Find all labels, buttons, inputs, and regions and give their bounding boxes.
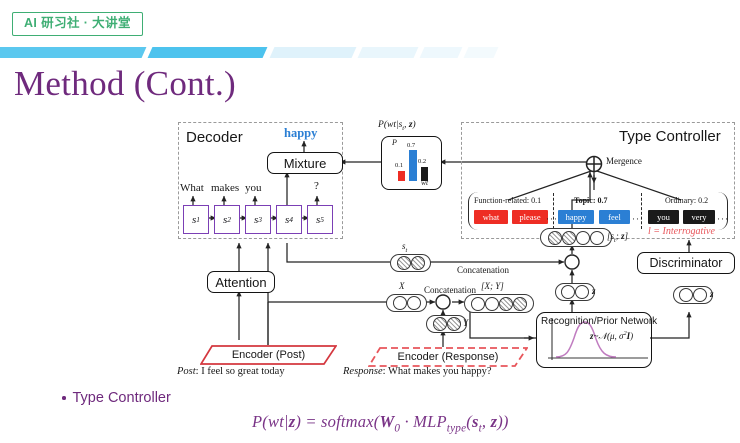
word-chip-feel: feel — [599, 210, 630, 224]
vector-st — [390, 254, 431, 272]
mixture-box[interactable]: Mixture — [267, 152, 343, 174]
vector-cell — [485, 297, 499, 311]
cell-index: 2 — [227, 215, 231, 224]
caption-response-text: : What makes you happy? — [383, 366, 492, 377]
decoder-input-word-1: makes — [211, 182, 239, 194]
recognition-formula: z~𝒩(μ, σ2I) — [590, 330, 633, 342]
caption-response-prefix: Response — [343, 366, 383, 377]
caption-post: Post: I feel so great today — [177, 366, 285, 377]
discriminator-box[interactable]: Discriminator — [637, 252, 735, 274]
decoder-input-word-0: What — [180, 182, 204, 194]
vector-x-label: X — [399, 281, 405, 291]
vector-y — [426, 315, 467, 333]
brand-badge: AI 研习社 · 大讲堂 — [12, 12, 143, 36]
vector-cell — [548, 231, 562, 245]
vector-cell — [679, 288, 693, 302]
bullet-dot-icon — [62, 396, 66, 400]
vector-cell — [575, 285, 589, 299]
category-header-topic: Topic: 0.7 — [574, 196, 608, 205]
prob-chart-bar-0 — [398, 171, 405, 181]
footer-equation: P(wt|z) = softmax(W0 · MLPtype(st, z)) — [252, 412, 509, 434]
decoder-input-word-2: you — [245, 182, 262, 194]
vector-cell — [513, 297, 527, 311]
category-header-ordinary: Ordinary: 0.2 — [665, 196, 708, 205]
prob-chart-title: P(wt|st, z) — [378, 120, 416, 132]
vector-cell — [407, 296, 421, 310]
vector-cell — [562, 231, 576, 245]
vector-x — [386, 294, 427, 312]
vector-xy-label: [X; Y] — [481, 281, 504, 291]
vector-st-z-label: [st; z] — [607, 231, 628, 244]
cell-index: 1 — [196, 215, 200, 224]
decoder-cell-s3: s3 — [245, 205, 271, 234]
prob-chart-bar-1 — [409, 150, 417, 181]
prob-chart-y-label: P — [392, 138, 397, 147]
recognition-label: Recognition/Prior Network — [541, 316, 657, 327]
vector-z-discriminator-label: z — [710, 289, 714, 299]
vector-cell — [397, 256, 411, 270]
vector-xy — [464, 294, 534, 313]
word-chip-you: you — [648, 210, 679, 224]
mergence-label: Mergence — [606, 156, 642, 166]
vector-cell — [576, 231, 590, 245]
decoder-cell-s2: s2 — [214, 205, 240, 234]
concatenation-node-xy — [436, 295, 450, 309]
type-controller-group-label: Type Controller — [619, 128, 721, 145]
vector-cell — [693, 288, 707, 302]
category-header-function-related: Function-related: 0.1 — [474, 196, 541, 205]
cell-index: 5 — [320, 215, 324, 224]
vector-z-recognition-label: z — [592, 286, 596, 296]
decoder-output-word: happy — [284, 126, 317, 141]
word-chip-what: what — [474, 210, 508, 224]
decoder-group-label: Decoder — [186, 129, 243, 146]
prob-chart-bar-label-1: 0.7 — [407, 142, 415, 149]
footer-bullet-label: Type Controller — [73, 390, 171, 406]
vector-cell — [590, 231, 604, 245]
concatenation-node-stz — [565, 255, 579, 269]
category-ellipsis-2: ··· — [717, 214, 729, 224]
encoder-post-label: Encoder (Post) — [200, 345, 337, 365]
vector-st-z — [540, 228, 612, 247]
attention-box[interactable]: Attention — [207, 271, 275, 293]
vector-st-label: st — [402, 241, 407, 254]
vector-y-label: Y — [463, 318, 468, 328]
decorative-stripes — [0, 47, 740, 58]
word-chip-happy: happy — [558, 210, 594, 224]
caption-post-text: : I feel so great today — [196, 366, 285, 377]
prob-chart-bar-label-2: 0.2 — [418, 158, 426, 165]
decoder-cell-s5: s5 — [307, 205, 333, 234]
word-chip-please: please — [512, 210, 548, 224]
discriminator-output-label: l = Interrogative — [648, 226, 715, 237]
footer-bullet-row: Type Controller — [62, 390, 171, 406]
caption-response: Response: What makes you happy? — [343, 366, 492, 377]
vector-cell — [471, 297, 485, 311]
category-ellipsis-0: ··· — [546, 214, 558, 224]
decoder-cell-s1: s1 — [183, 205, 209, 234]
decoder-cell-s4: s4 — [276, 205, 302, 234]
encoder-post[interactable]: Encoder (Post) — [200, 345, 337, 365]
vector-cell — [561, 285, 575, 299]
prob-chart-bar-label-0: 0.1 — [395, 162, 403, 169]
prob-chart-bar-2 — [421, 167, 428, 181]
vector-cell — [411, 256, 425, 270]
category-ellipsis-1: ··· — [632, 214, 644, 224]
encoder-response-label: Encoder (Response) — [368, 347, 528, 367]
page-title: Method (Cont.) — [14, 64, 236, 104]
word-chip-very: very — [683, 210, 715, 224]
concatenation-label-xy: Concatenation — [424, 285, 476, 295]
cell-index: 4 — [289, 215, 293, 224]
vector-z-recognition — [555, 283, 595, 301]
decoder-input-word-3: ? — [314, 180, 319, 192]
encoder-response[interactable]: Encoder (Response) — [368, 347, 528, 367]
concatenation-label-stz: Concatenation — [457, 265, 509, 275]
vector-cell — [393, 296, 407, 310]
caption-post-prefix: Post — [177, 366, 196, 377]
vector-z-discriminator — [673, 286, 713, 304]
vector-cell — [447, 317, 461, 331]
cell-index: 3 — [258, 215, 262, 224]
vector-cell — [499, 297, 513, 311]
vector-cell — [433, 317, 447, 331]
